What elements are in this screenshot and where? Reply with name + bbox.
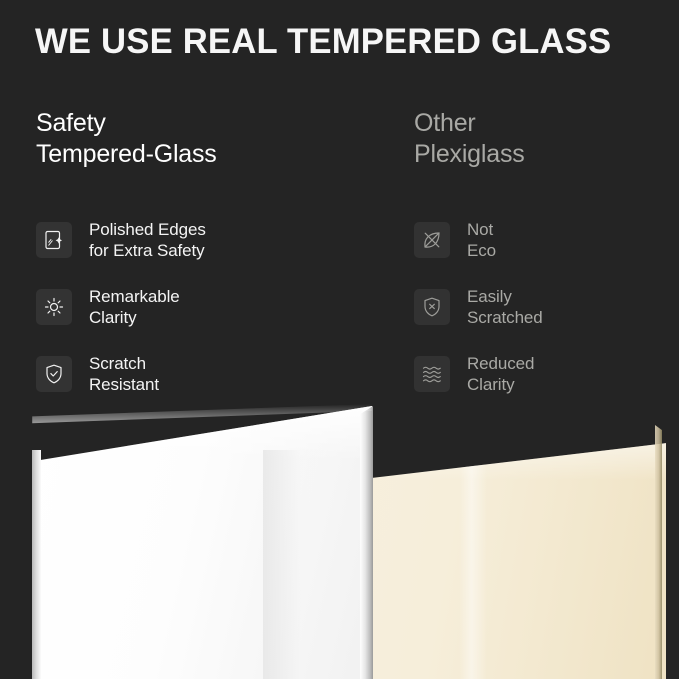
feature-item: Not Eco — [414, 206, 664, 273]
feature-label: Polished Edges for Extra Safety — [89, 219, 206, 261]
feature-label-line2: Resistant — [89, 374, 159, 395]
glass-reflection — [263, 450, 331, 679]
infographic-canvas: WE USE REAL TEMPERED GLASS Safety Temper… — [0, 0, 679, 679]
shield-check-icon — [36, 356, 72, 392]
feature-label: Reduced Clarity — [467, 353, 534, 395]
feature-label-line2: Clarity — [89, 307, 180, 328]
plexiglass-right-edge — [655, 425, 662, 679]
tempered-glass-panel-image — [32, 406, 372, 679]
glass-right-edge — [360, 406, 373, 679]
product-photo — [0, 398, 679, 679]
feature-label-line1: Remarkable — [89, 287, 180, 306]
column-heading-right: Other Plexiglass — [414, 108, 664, 170]
feature-label-line1: Easily — [467, 287, 512, 306]
feature-item: Remarkable Clarity — [36, 273, 376, 340]
column-plexiglass: Other Plexiglass Not Eco — [414, 108, 664, 170]
sun-brightness-icon — [36, 289, 72, 325]
feature-label: Easily Scratched — [467, 286, 543, 328]
plexiglass-top-highlight — [352, 418, 666, 498]
feature-label: Remarkable Clarity — [89, 286, 180, 328]
feature-label-line2: Eco — [467, 240, 496, 261]
feature-item: Polished Edges for Extra Safety — [36, 206, 376, 273]
column-heading-right-line1: Other — [414, 109, 476, 137]
feature-list-left: Polished Edges for Extra Safety Remarkab… — [36, 206, 376, 407]
feature-list-right: Not Eco Easily Scratched — [414, 206, 664, 407]
column-heading-right-line2: Plexiglass — [414, 139, 664, 170]
glass-left-edge — [32, 450, 41, 679]
column-heading-left: Safety Tempered-Glass — [36, 108, 376, 170]
feature-label-line1: Reduced — [467, 354, 534, 373]
feature-label-line1: Not — [467, 220, 493, 239]
feature-label: Not Eco — [467, 219, 496, 261]
feature-label-line1: Polished Edges — [89, 220, 206, 239]
page-title: WE USE REAL TEMPERED GLASS — [35, 22, 649, 62]
column-tempered-glass: Safety Tempered-Glass Polished Edges for… — [36, 108, 376, 170]
plexiglass-panel-image — [352, 418, 666, 679]
feature-item: Easily Scratched — [414, 273, 664, 340]
column-heading-left-line2: Tempered-Glass — [36, 139, 376, 170]
feature-label: Scratch Resistant — [89, 353, 159, 395]
polished-edge-sparkle-icon — [36, 222, 72, 258]
column-heading-left-line1: Safety — [36, 109, 106, 137]
feature-label-line2: Scratched — [467, 307, 543, 328]
feature-label-line2: for Extra Safety — [89, 240, 206, 261]
feature-label-line2: Clarity — [467, 374, 534, 395]
feature-item: Scratch Resistant — [36, 340, 376, 407]
shield-x-icon — [414, 289, 450, 325]
wavy-distortion-lines-icon — [414, 356, 450, 392]
leaf-crossed-out-icon — [414, 222, 450, 258]
feature-item: Reduced Clarity — [414, 340, 664, 407]
feature-label-line1: Scratch — [89, 354, 146, 373]
plexiglass-reflection — [459, 418, 487, 679]
